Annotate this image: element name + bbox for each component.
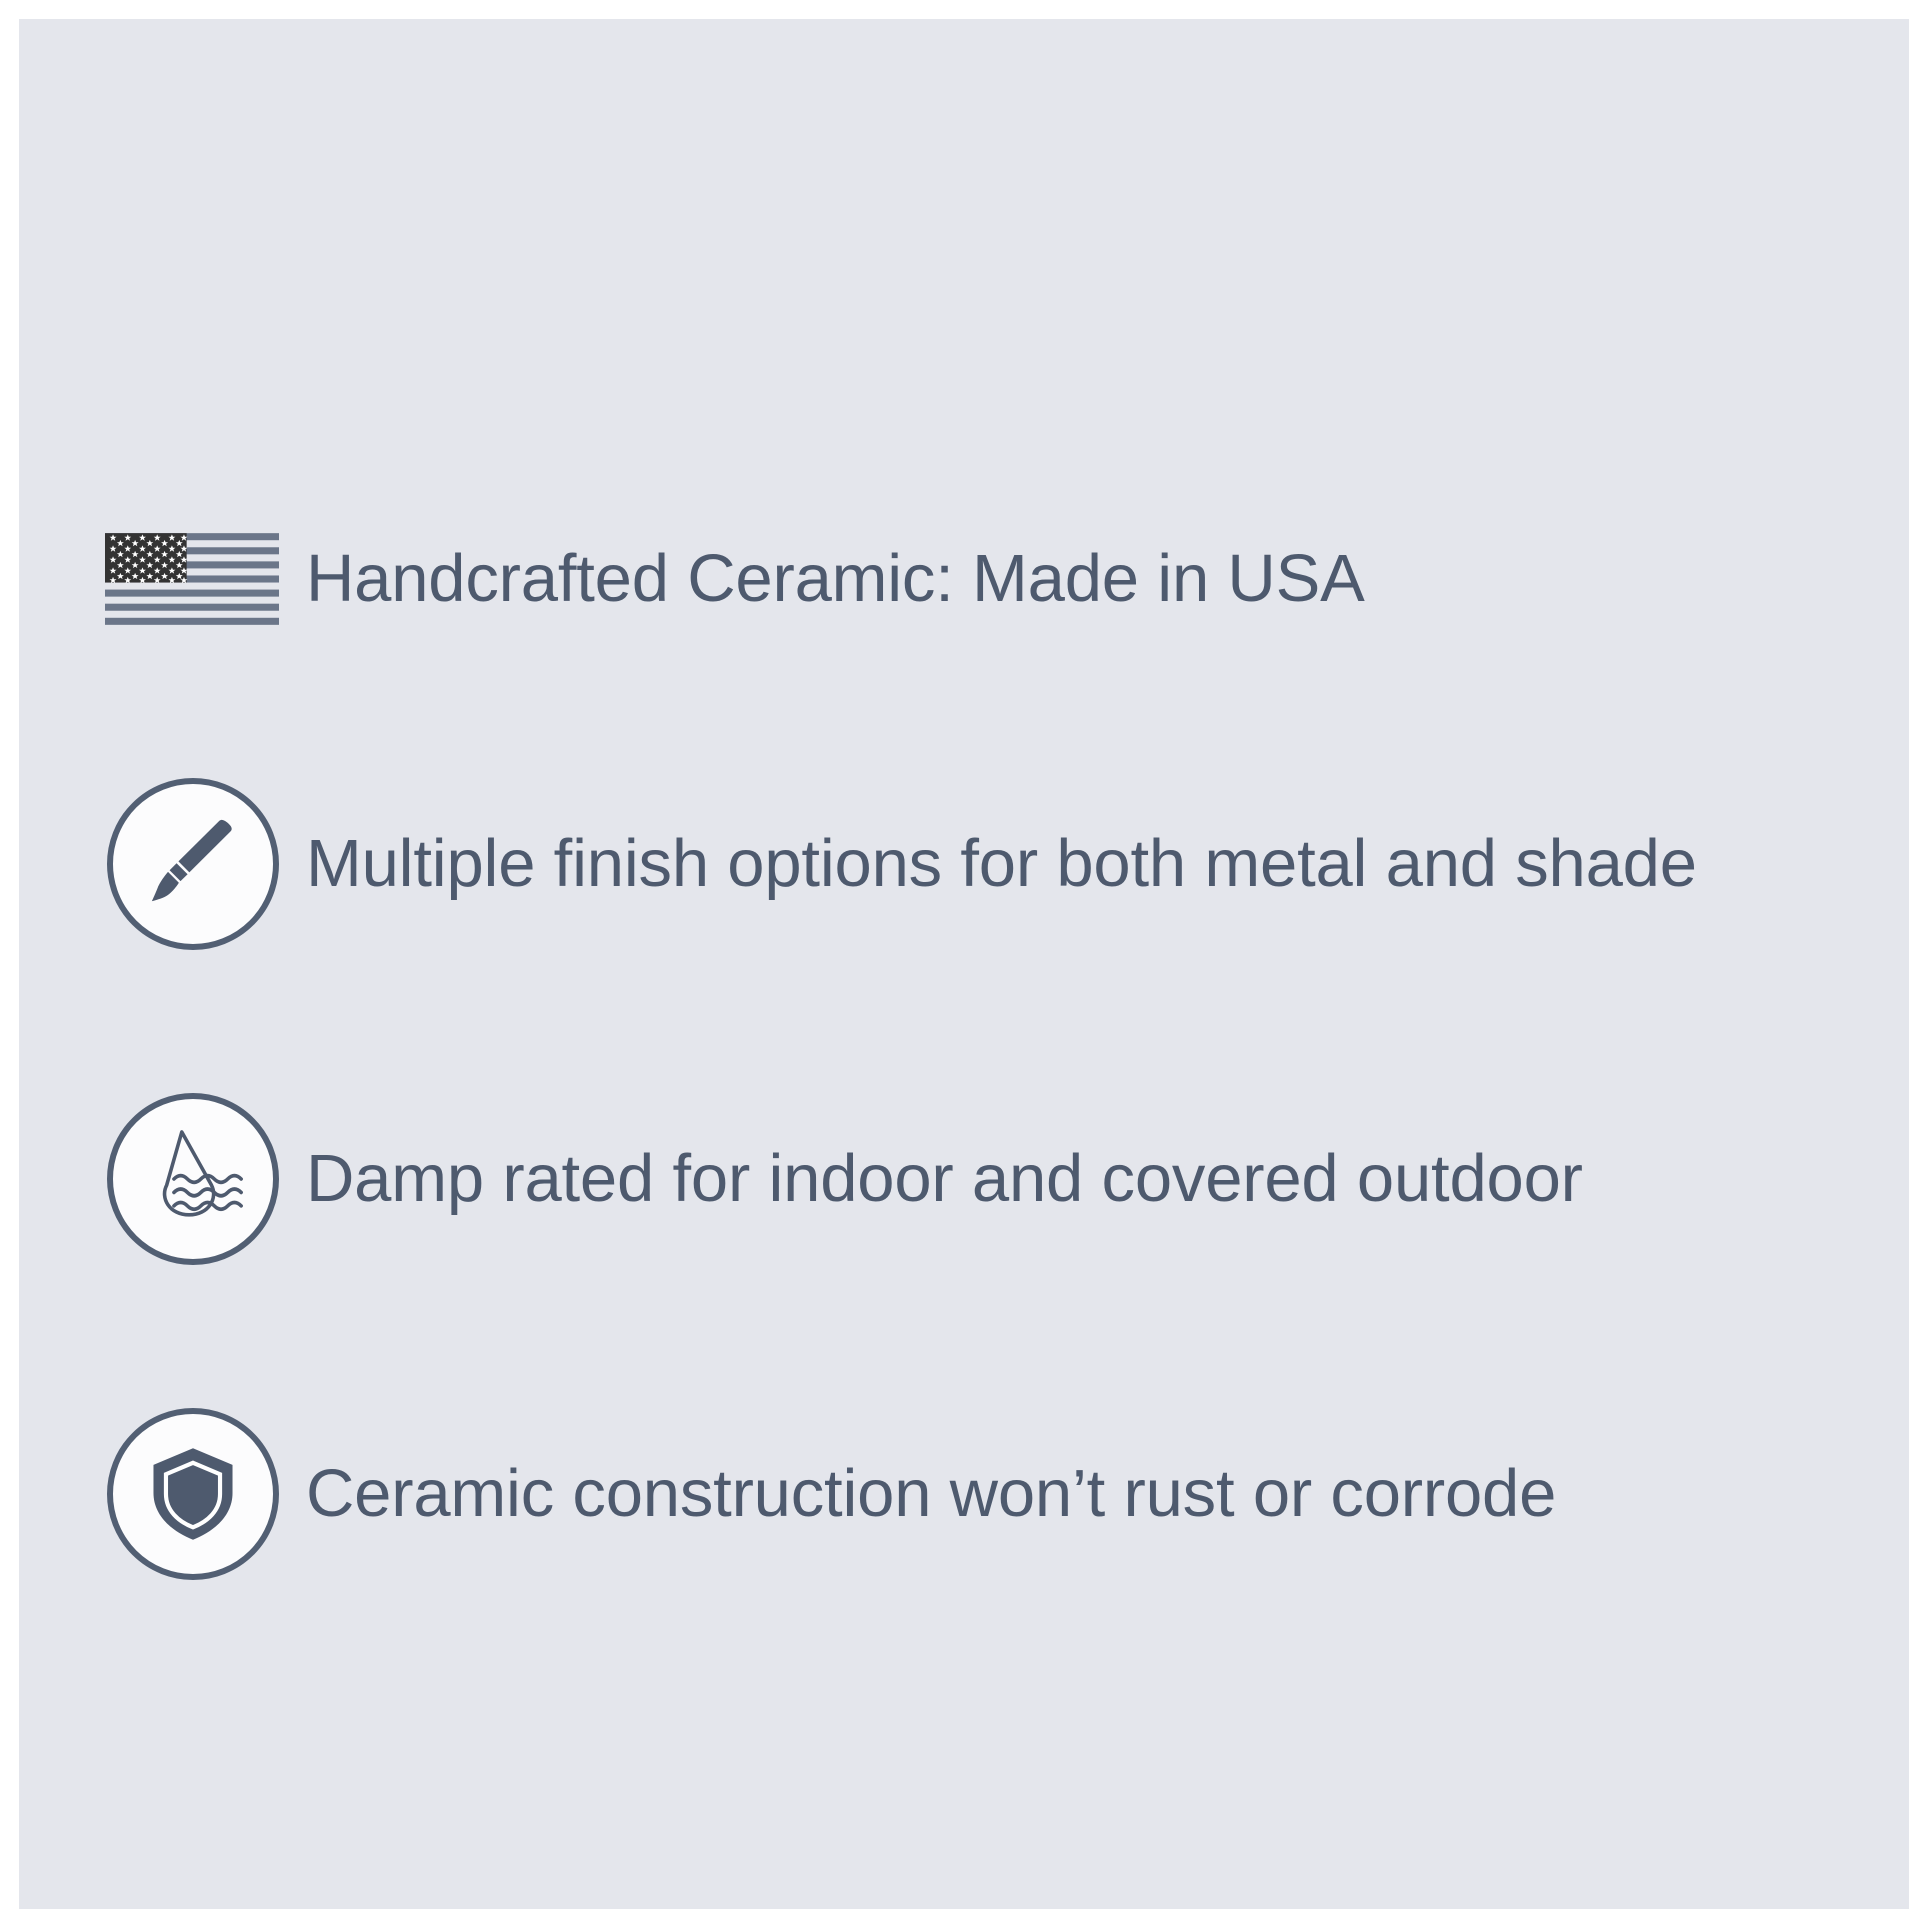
feature-icon-slot	[89, 769, 284, 959]
paintbrush-icon	[141, 812, 245, 916]
feature-panel: Handcrafted Ceramic: Made in USA Multipl…	[19, 19, 1909, 1909]
feature-row: Ceramic construction won’t rust or corro…	[89, 1399, 1869, 1589]
shield-icon	[141, 1442, 245, 1546]
feature-row: Handcrafted Ceramic: Made in USA	[89, 484, 1869, 674]
feature-row: Damp rated for indoor and covered outdoo…	[89, 1084, 1869, 1274]
icon-circle	[107, 778, 279, 950]
feature-row: Multiple finish options for both metal a…	[89, 769, 1869, 959]
feature-label: Handcrafted Ceramic: Made in USA	[284, 544, 1365, 614]
feature-icon-slot	[89, 1084, 284, 1274]
water-drop-damp-rated-icon	[137, 1123, 249, 1235]
feature-label: Ceramic construction won’t rust or corro…	[284, 1459, 1556, 1529]
feature-icon-slot	[89, 484, 284, 674]
feature-list: Handcrafted Ceramic: Made in USA Multipl…	[19, 19, 1909, 1909]
feature-label: Damp rated for indoor and covered outdoo…	[284, 1144, 1583, 1214]
usa-flag-icon	[105, 529, 279, 629]
icon-circle	[107, 1093, 279, 1265]
feature-label: Multiple finish options for both metal a…	[284, 829, 1697, 899]
feature-icon-slot	[89, 1399, 284, 1589]
icon-circle	[107, 1408, 279, 1580]
